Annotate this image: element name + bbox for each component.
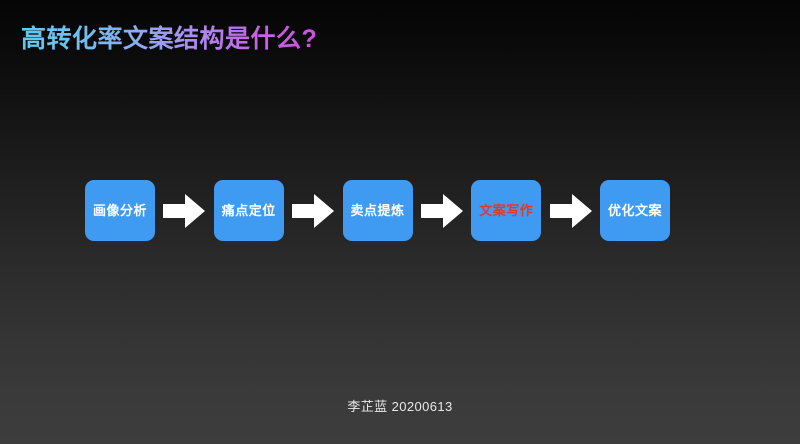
flow-arrow-4: [541, 193, 600, 229]
slide-footer-credit: 李芷蓝 20200613: [0, 398, 800, 416]
flow-step-2[interactable]: 痛点定位: [214, 180, 284, 241]
flow-arrow-2: [284, 193, 343, 229]
flow-arrow-1: [155, 193, 214, 229]
page-title: 高转化率文案结构是什么?: [21, 22, 317, 56]
arrow-right-icon: [421, 193, 463, 229]
flow-step-4[interactable]: 文案写作: [471, 180, 541, 241]
flow-step-3-label: 卖点提炼: [350, 204, 404, 217]
flow-step-1-label: 画像分析: [93, 204, 147, 217]
flow-step-1[interactable]: 画像分析: [85, 180, 155, 241]
arrow-right-icon: [292, 193, 334, 229]
arrow-right-icon: [163, 193, 205, 229]
presentation-slide: 高转化率文案结构是什么? 画像分析 痛点定位 卖点提炼: [0, 0, 800, 444]
arrow-right-icon: [550, 193, 592, 229]
flow-step-4-label: 文案写作: [479, 204, 533, 217]
flow-step-5[interactable]: 优化文案: [600, 180, 670, 241]
flow-step-2-label: 痛点定位: [222, 204, 276, 217]
flow-step-5-label: 优化文案: [608, 204, 662, 217]
process-flow-diagram: 画像分析 痛点定位 卖点提炼: [85, 180, 670, 241]
flow-arrow-3: [413, 193, 472, 229]
flow-step-3[interactable]: 卖点提炼: [343, 180, 413, 241]
